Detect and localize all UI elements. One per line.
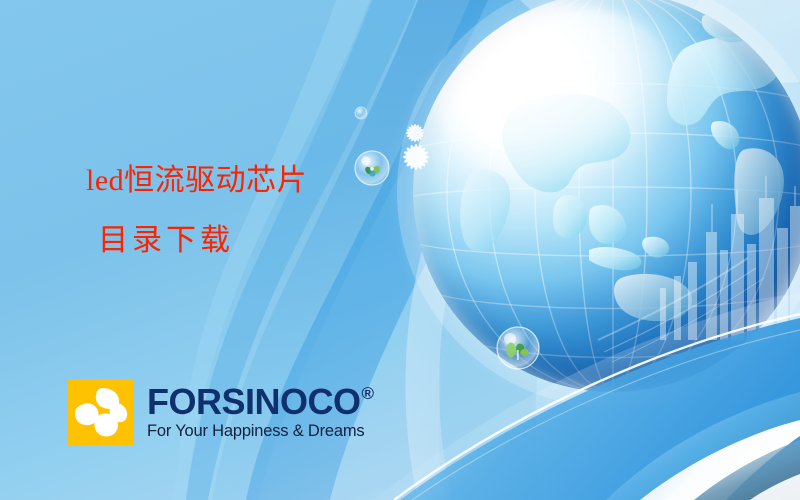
registered-trademark-icon: ® <box>362 385 374 402</box>
daisy-flower <box>406 124 424 142</box>
daisy-flower <box>403 144 429 170</box>
bubble-leaf <box>497 327 539 369</box>
headline: led恒流驱动芯片 目录下载 <box>86 166 307 256</box>
bubble-pinwheel <box>355 151 389 185</box>
bubble-small <box>355 107 367 119</box>
brand-name-text: FORSINOCO <box>147 384 361 420</box>
forsinoco-pinwheel-mark-icon <box>68 379 134 445</box>
headline-line-2: 目录下载 <box>86 226 307 256</box>
company-logo: FORSINOCO ® For Your Happiness & Dreams <box>68 379 374 445</box>
promo-banner: led恒流驱动芯片 目录下载 FORSINOCO ® For Your Happ… <box>0 0 800 500</box>
headline-line-1: led恒流驱动芯片 <box>86 166 307 196</box>
brand-name: FORSINOCO ® <box>147 384 374 420</box>
brand-tagline: For Your Happiness & Dreams <box>147 422 374 441</box>
